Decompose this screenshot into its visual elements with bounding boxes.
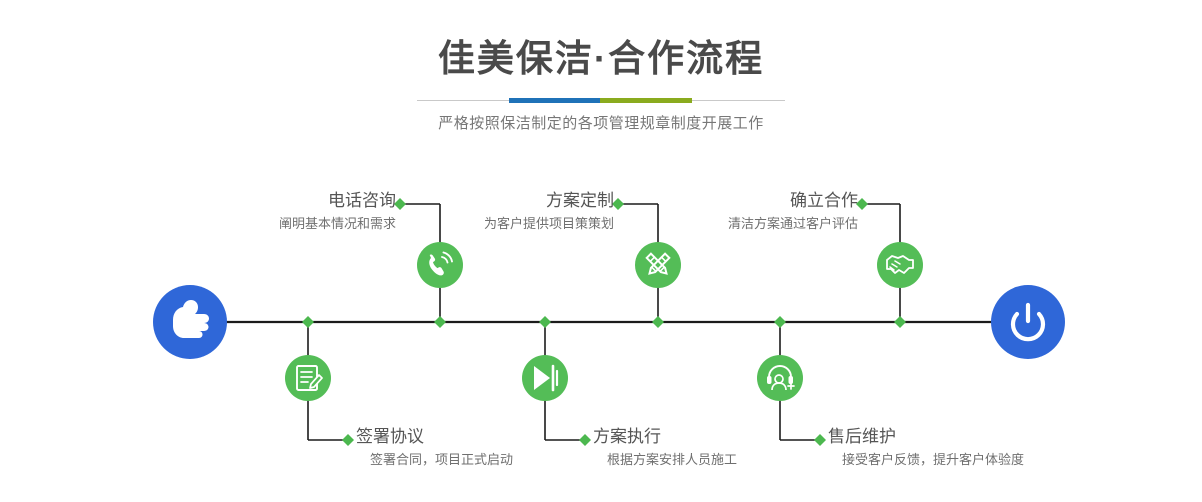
marker-step-5-axis [894, 316, 906, 328]
step-title-2: 签署协议 [356, 426, 513, 447]
step-node-5[interactable] [877, 242, 923, 288]
step-title-5: 确立合作 [706, 190, 858, 211]
step-node-2[interactable] [285, 355, 331, 401]
step-desc-5: 清洁方案通过客户评估 [706, 214, 858, 233]
step-node-1[interactable] [417, 242, 463, 288]
marker-step-3-axis [652, 316, 664, 328]
marker-step-4-label [579, 434, 591, 446]
step-title-3: 方案定制 [460, 190, 614, 211]
step-desc-6: 接受客户反馈，提升客户体验度 [828, 450, 1024, 469]
flow-end-node[interactable] [991, 285, 1065, 359]
step-desc-1: 阐明基本情况和需求 [250, 214, 396, 233]
step-label-5: 确立合作 清洁方案通过客户评估 [706, 190, 858, 233]
step-label-1: 电话咨询 阐明基本情况和需求 [250, 190, 396, 233]
step-desc-3: 为客户提供项目策策划 [460, 214, 614, 233]
step-title-1: 电话咨询 [250, 190, 396, 211]
step-title-6: 售后维护 [828, 426, 1024, 447]
step-label-4: 方案执行 根据方案安排人员施工 [593, 426, 737, 469]
process-flow-diagram: 电话咨询 阐明基本情况和需求 方案定制 为客户提供项目策策划 确立合作 清洁方案… [0, 0, 1202, 502]
step-label-2: 签署协议 签署合同，项目正式启动 [356, 426, 513, 469]
step-desc-4: 根据方案安排人员施工 [593, 450, 737, 469]
marker-step-2-label [342, 434, 354, 446]
flow-start-node[interactable] [153, 285, 227, 359]
step-node-4[interactable] [522, 355, 568, 401]
step-desc-2: 签署合同，项目正式启动 [356, 450, 513, 469]
marker-step-1-axis [434, 316, 446, 328]
marker-step-6-label [814, 434, 826, 446]
step-node-6[interactable] [757, 355, 803, 401]
marker-step-6-axis [774, 316, 786, 328]
step-node-3[interactable] [635, 242, 681, 288]
step-label-3: 方案定制 为客户提供项目策策划 [460, 190, 614, 233]
marker-step-2-axis [302, 316, 314, 328]
marker-step-4-axis [539, 316, 551, 328]
step-title-4: 方案执行 [593, 426, 737, 447]
step-label-6: 售后维护 接受客户反馈，提升客户体验度 [828, 426, 1024, 469]
